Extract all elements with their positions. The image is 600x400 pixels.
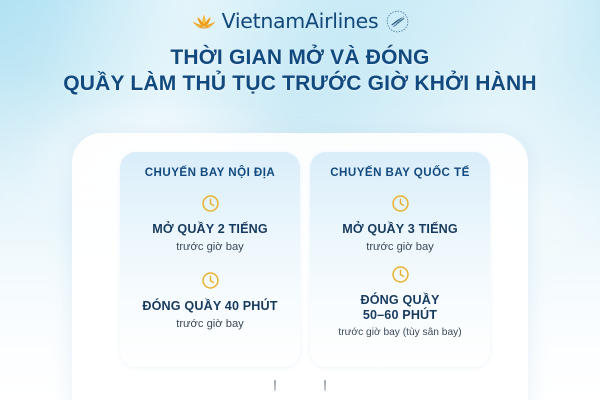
card-title-domestic: CHUYẾN BAY NỘI ĐỊA: [145, 166, 276, 179]
page-title: THỜI GIAN MỞ VÀ ĐÓNG QUẦY LÀM THỦ TỤC TR…: [0, 45, 600, 97]
tick-mark: [274, 380, 276, 391]
international-close-sub: trước giờ bay (tùy sân bay): [338, 326, 461, 340]
brand-word-airlines: Airlines: [305, 9, 378, 33]
brand-wordmark: VietnamAirlines: [222, 11, 379, 32]
card-international-flights: CHUYẾN BAY QUỐC TẾ MỞ QUẦY 3 TIẾNG trước…: [310, 152, 490, 367]
domestic-open-sub: trước giờ bay: [176, 240, 244, 254]
clock-icon: [201, 271, 220, 290]
row-international-counter-close: ĐÓNG QUẦY 50–60 PHÚT trước giờ bay (tùy …: [318, 265, 482, 340]
card-title-international: CHUYẾN BAY QUỐC TẾ: [330, 166, 470, 179]
brand-word-vietnam: Vietnam: [222, 9, 305, 33]
clock-icon: [391, 194, 410, 213]
clock-icon: [201, 194, 220, 213]
domestic-close-main: ĐÓNG QUẦY 40 PHÚT: [142, 299, 277, 314]
headline-line-2: QUẦY LÀM THỦ TỤC TRƯỚC GIỜ KHỞI HÀNH: [0, 71, 600, 97]
skyteam-badge-icon: [386, 10, 409, 33]
row-domestic-counter-close: ĐÓNG QUẦY 40 PHÚT trước giờ bay: [128, 271, 292, 331]
card-domestic-flights: CHUYẾN BAY NỘI ĐỊA MỞ QUẦY 2 TIẾNG trước…: [120, 152, 300, 367]
international-open-sub: trước giờ bay: [366, 240, 434, 254]
clock-icon: [391, 265, 410, 284]
domestic-open-main: MỞ QUẦY 2 TIẾNG: [152, 222, 268, 237]
row-domestic-counter-open: MỞ QUẦY 2 TIẾNG trước giờ bay: [128, 194, 292, 254]
brand-lockup: VietnamAirlines: [0, 6, 600, 36]
international-close-main-2: 50–60 PHÚT: [363, 308, 437, 323]
lotus-icon: [191, 10, 217, 32]
card-row: CHUYẾN BAY NỘI ĐỊA MỞ QUẦY 2 TIẾNG trước…: [120, 152, 490, 367]
international-open-main: MỞ QUẦY 3 TIẾNG: [342, 222, 458, 237]
tick-mark: [324, 380, 326, 391]
headline-line-1: THỜI GIAN MỞ VÀ ĐÓNG: [0, 45, 600, 71]
row-international-counter-open: MỞ QUẦY 3 TIẾNG trước giờ bay: [318, 194, 482, 254]
bottom-tick-marks: [0, 380, 600, 394]
international-close-main: ĐÓNG QUẦY: [360, 293, 439, 308]
infographic-poster: VietnamAirlines THỜI GIAN MỞ VÀ ĐÓNG QUẦ…: [0, 0, 600, 400]
domestic-close-sub: trước giờ bay: [176, 317, 244, 331]
